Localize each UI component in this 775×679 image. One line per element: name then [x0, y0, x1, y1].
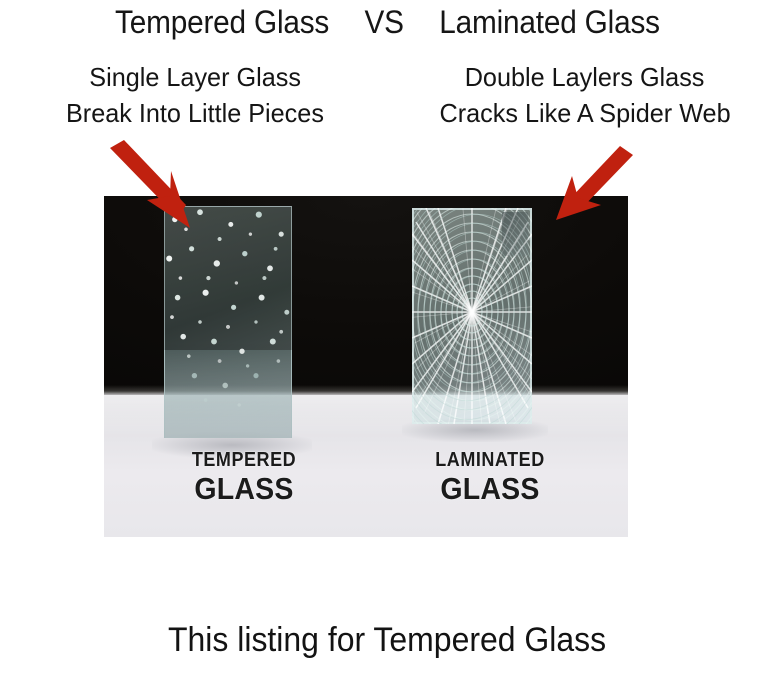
tempered-glass-panel — [164, 206, 292, 438]
comparison-photo: TEMPERED GLASS LAMINATED GLASS — [104, 196, 628, 537]
subhead-row: Single Layer Glass Break Into Little Pie… — [0, 60, 775, 140]
footer-note: This listing for Tempered Glass — [0, 612, 775, 668]
tempered-shatter-fade — [164, 206, 292, 438]
caption-tempered-top: TEMPERED — [154, 450, 334, 471]
page-title: Tempered Glass VS Laminated Glass — [0, 0, 775, 44]
page-canvas: Tempered Glass VS Laminated Glass Single… — [0, 0, 775, 679]
caption-tempered-glass: GLASS — [152, 473, 336, 506]
footer-text: This listing for Tempered Glass — [168, 621, 606, 660]
subhead-left-column: Single Layer Glass Break Into Little Pie… — [0, 60, 390, 131]
subhead-right-column: Double Laylers Glass Cracks Like A Spide… — [395, 60, 775, 131]
title-tempered-glass: Tempered Glass — [115, 4, 329, 41]
subhead-right-line-2: Cracks Like A Spider Web — [439, 96, 730, 130]
photo-caption-laminated: LAMINATED GLASS — [390, 450, 590, 506]
subhead-left-line-2: Break Into Little Pieces — [66, 96, 324, 130]
title-vs: VS — [364, 4, 403, 41]
title-laminated-glass: Laminated Glass — [439, 4, 660, 41]
caption-laminated-glass: GLASS — [398, 473, 582, 506]
caption-laminated-top: LAMINATED — [400, 450, 580, 471]
subhead-left-line-1: Single Layer Glass — [89, 60, 301, 94]
photo-caption-tempered: TEMPERED GLASS — [144, 450, 344, 506]
laminated-glass-panel — [412, 208, 532, 424]
laminated-pane-reflection — [502, 212, 528, 256]
subhead-right-line-1: Double Laylers Glass — [465, 60, 705, 94]
